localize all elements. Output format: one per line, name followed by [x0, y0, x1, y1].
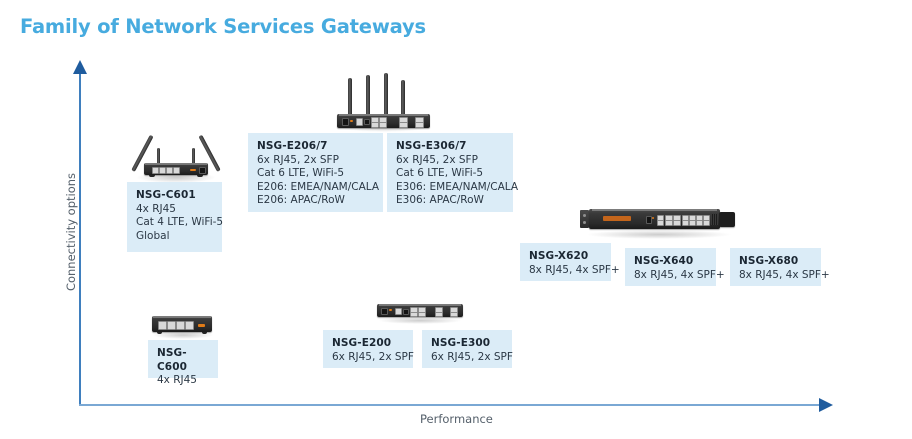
sfp-port	[399, 122, 408, 128]
router-chassis	[144, 163, 208, 175]
chassis-highlight	[379, 304, 462, 306]
card-line: Cat 6 LTE, WiFi-5	[257, 167, 374, 181]
x620-appliance-image	[580, 208, 735, 238]
status-led	[652, 217, 654, 219]
antenna-1	[348, 78, 352, 116]
power-port	[199, 167, 206, 174]
sfp-plus-port	[665, 220, 673, 226]
card-nsg-e200[interactable]: NSG-E200 6x RJ45, 2x SPF	[323, 330, 413, 368]
power-port	[342, 118, 349, 126]
card-line: 4x RJ45	[136, 203, 213, 217]
appliance-chassis	[337, 114, 430, 128]
device-shadow	[586, 230, 732, 239]
card-nsg-e306-7[interactable]: NSG-E306/7 6x RJ45, 2x SFP Cat 6 LTE, Wi…	[387, 133, 513, 212]
x-axis-label: Performance	[420, 412, 493, 426]
rj45-port	[371, 122, 379, 128]
rack-ear-left	[580, 210, 589, 228]
brand-badge	[603, 216, 631, 221]
status-led	[389, 309, 392, 311]
chassis-highlight	[153, 316, 211, 318]
card-nsg-x640[interactable]: NSG-X640 8x RJ45, 4x SPF+	[625, 248, 716, 286]
y-axis-arrow-icon	[73, 60, 87, 74]
card-line: 8x RJ45, 4x SPF+	[739, 269, 812, 283]
rj45-port	[167, 321, 176, 330]
status-led	[350, 120, 353, 122]
device-shadow	[378, 317, 462, 324]
antenna-4	[401, 80, 405, 116]
card-title: NSG-C601	[136, 189, 213, 203]
usb-port	[403, 309, 409, 315]
rj45-port	[410, 312, 418, 318]
card-line: E206: APAC/RoW	[257, 194, 374, 208]
card-title: NSG-E206/7	[257, 140, 374, 154]
c600-appliance-image	[150, 314, 216, 338]
power-port	[381, 308, 388, 315]
chassis-vent	[711, 214, 718, 225]
c601-router-image	[122, 126, 230, 182]
rj45-port	[418, 312, 426, 318]
rj45-port	[689, 220, 696, 226]
diagram-canvas: Family of Network Services Gateways Conn…	[0, 0, 912, 439]
card-line: 8x RJ45, 4x SPF+	[634, 269, 707, 283]
card-nsg-c600[interactable]: NSG-C600 4x RJ45	[148, 340, 218, 378]
card-line: Cat 6 LTE, WiFi-5	[396, 167, 504, 181]
power-supply-module	[719, 212, 735, 227]
card-line: 4x RJ45	[157, 374, 209, 388]
card-nsg-x620[interactable]: NSG-X620 8x RJ45, 4x SPF+	[520, 243, 611, 281]
card-nsg-e300[interactable]: NSG-E300 6x RJ45, 2x SPF	[422, 330, 512, 368]
rj45-port	[379, 122, 387, 128]
rj45-port	[682, 220, 689, 226]
appliance-chassis	[377, 304, 463, 317]
card-nsg-c601[interactable]: NSG-C601 4x RJ45 Cat 4 LTE, WiFi-5 Globa…	[127, 182, 222, 252]
y-axis-line	[79, 72, 81, 406]
card-line: Cat 4 LTE, WiFi-5	[136, 216, 213, 230]
card-title: NSG-E306/7	[396, 140, 504, 154]
page-title: Family of Network Services Gateways	[20, 15, 426, 38]
rackmount-chassis	[589, 209, 720, 229]
appliance-chassis	[152, 316, 212, 332]
card-line: 6x RJ45, 2x SFP	[396, 154, 504, 168]
card-line: Global	[136, 230, 213, 244]
rack-ear-hole	[583, 214, 586, 217]
rj45-port	[166, 167, 173, 174]
e200-appliance-image	[376, 303, 464, 323]
rj45-port	[176, 321, 185, 330]
sfp-port	[435, 312, 443, 318]
console-port	[395, 308, 402, 315]
status-led	[190, 169, 196, 171]
y-axis-label: Connectivity options	[64, 152, 78, 312]
rj45-port	[173, 167, 180, 174]
card-nsg-e206-7[interactable]: NSG-E206/7 6x RJ45, 2x SFP Cat 6 LTE, Wi…	[248, 133, 383, 212]
rack-ear-hole	[583, 221, 586, 224]
card-nsg-x680[interactable]: NSG-X680 8x RJ45, 4x SPF+	[730, 248, 821, 286]
sfp-port	[450, 312, 458, 318]
usb-port	[364, 119, 370, 125]
antenna-2	[366, 75, 370, 116]
card-title: NSG-C600	[157, 347, 209, 374]
chassis-highlight	[339, 114, 428, 116]
rj45-port	[152, 167, 159, 174]
card-title: NSG-E200	[332, 337, 404, 351]
card-title: NSG-X620	[529, 250, 602, 264]
card-line: 6x RJ45, 2x SFP	[257, 154, 374, 168]
card-line: E206: EMEA/NAM/CALA	[257, 181, 374, 195]
x-axis-line	[79, 404, 821, 406]
sfp-port	[415, 122, 424, 128]
rj45-port	[158, 321, 167, 330]
e206-appliance-image	[334, 72, 434, 132]
chassis-highlight	[592, 209, 718, 211]
console-port	[356, 118, 363, 126]
card-line: E306: EMEA/NAM/CALA	[396, 181, 504, 195]
rj45-port	[696, 220, 703, 226]
card-line: 6x RJ45, 2x SPF	[332, 351, 404, 365]
antenna-3	[384, 73, 388, 116]
card-line: 8x RJ45, 4x SPF+	[529, 264, 602, 278]
rj45-port	[703, 220, 710, 226]
card-title: NSG-E300	[431, 337, 503, 351]
usb-port	[657, 220, 664, 226]
sfp-plus-port	[673, 220, 681, 226]
rj45-port	[185, 321, 194, 330]
card-line: 6x RJ45, 2x SPF	[431, 351, 503, 365]
rj45-port	[159, 167, 166, 174]
chassis-highlight	[145, 163, 206, 165]
card-title: NSG-X640	[634, 255, 707, 269]
card-line: E306: APAC/RoW	[396, 194, 504, 208]
x-axis-arrow-icon	[819, 398, 833, 412]
card-title: NSG-X680	[739, 255, 812, 269]
status-led	[198, 324, 205, 327]
